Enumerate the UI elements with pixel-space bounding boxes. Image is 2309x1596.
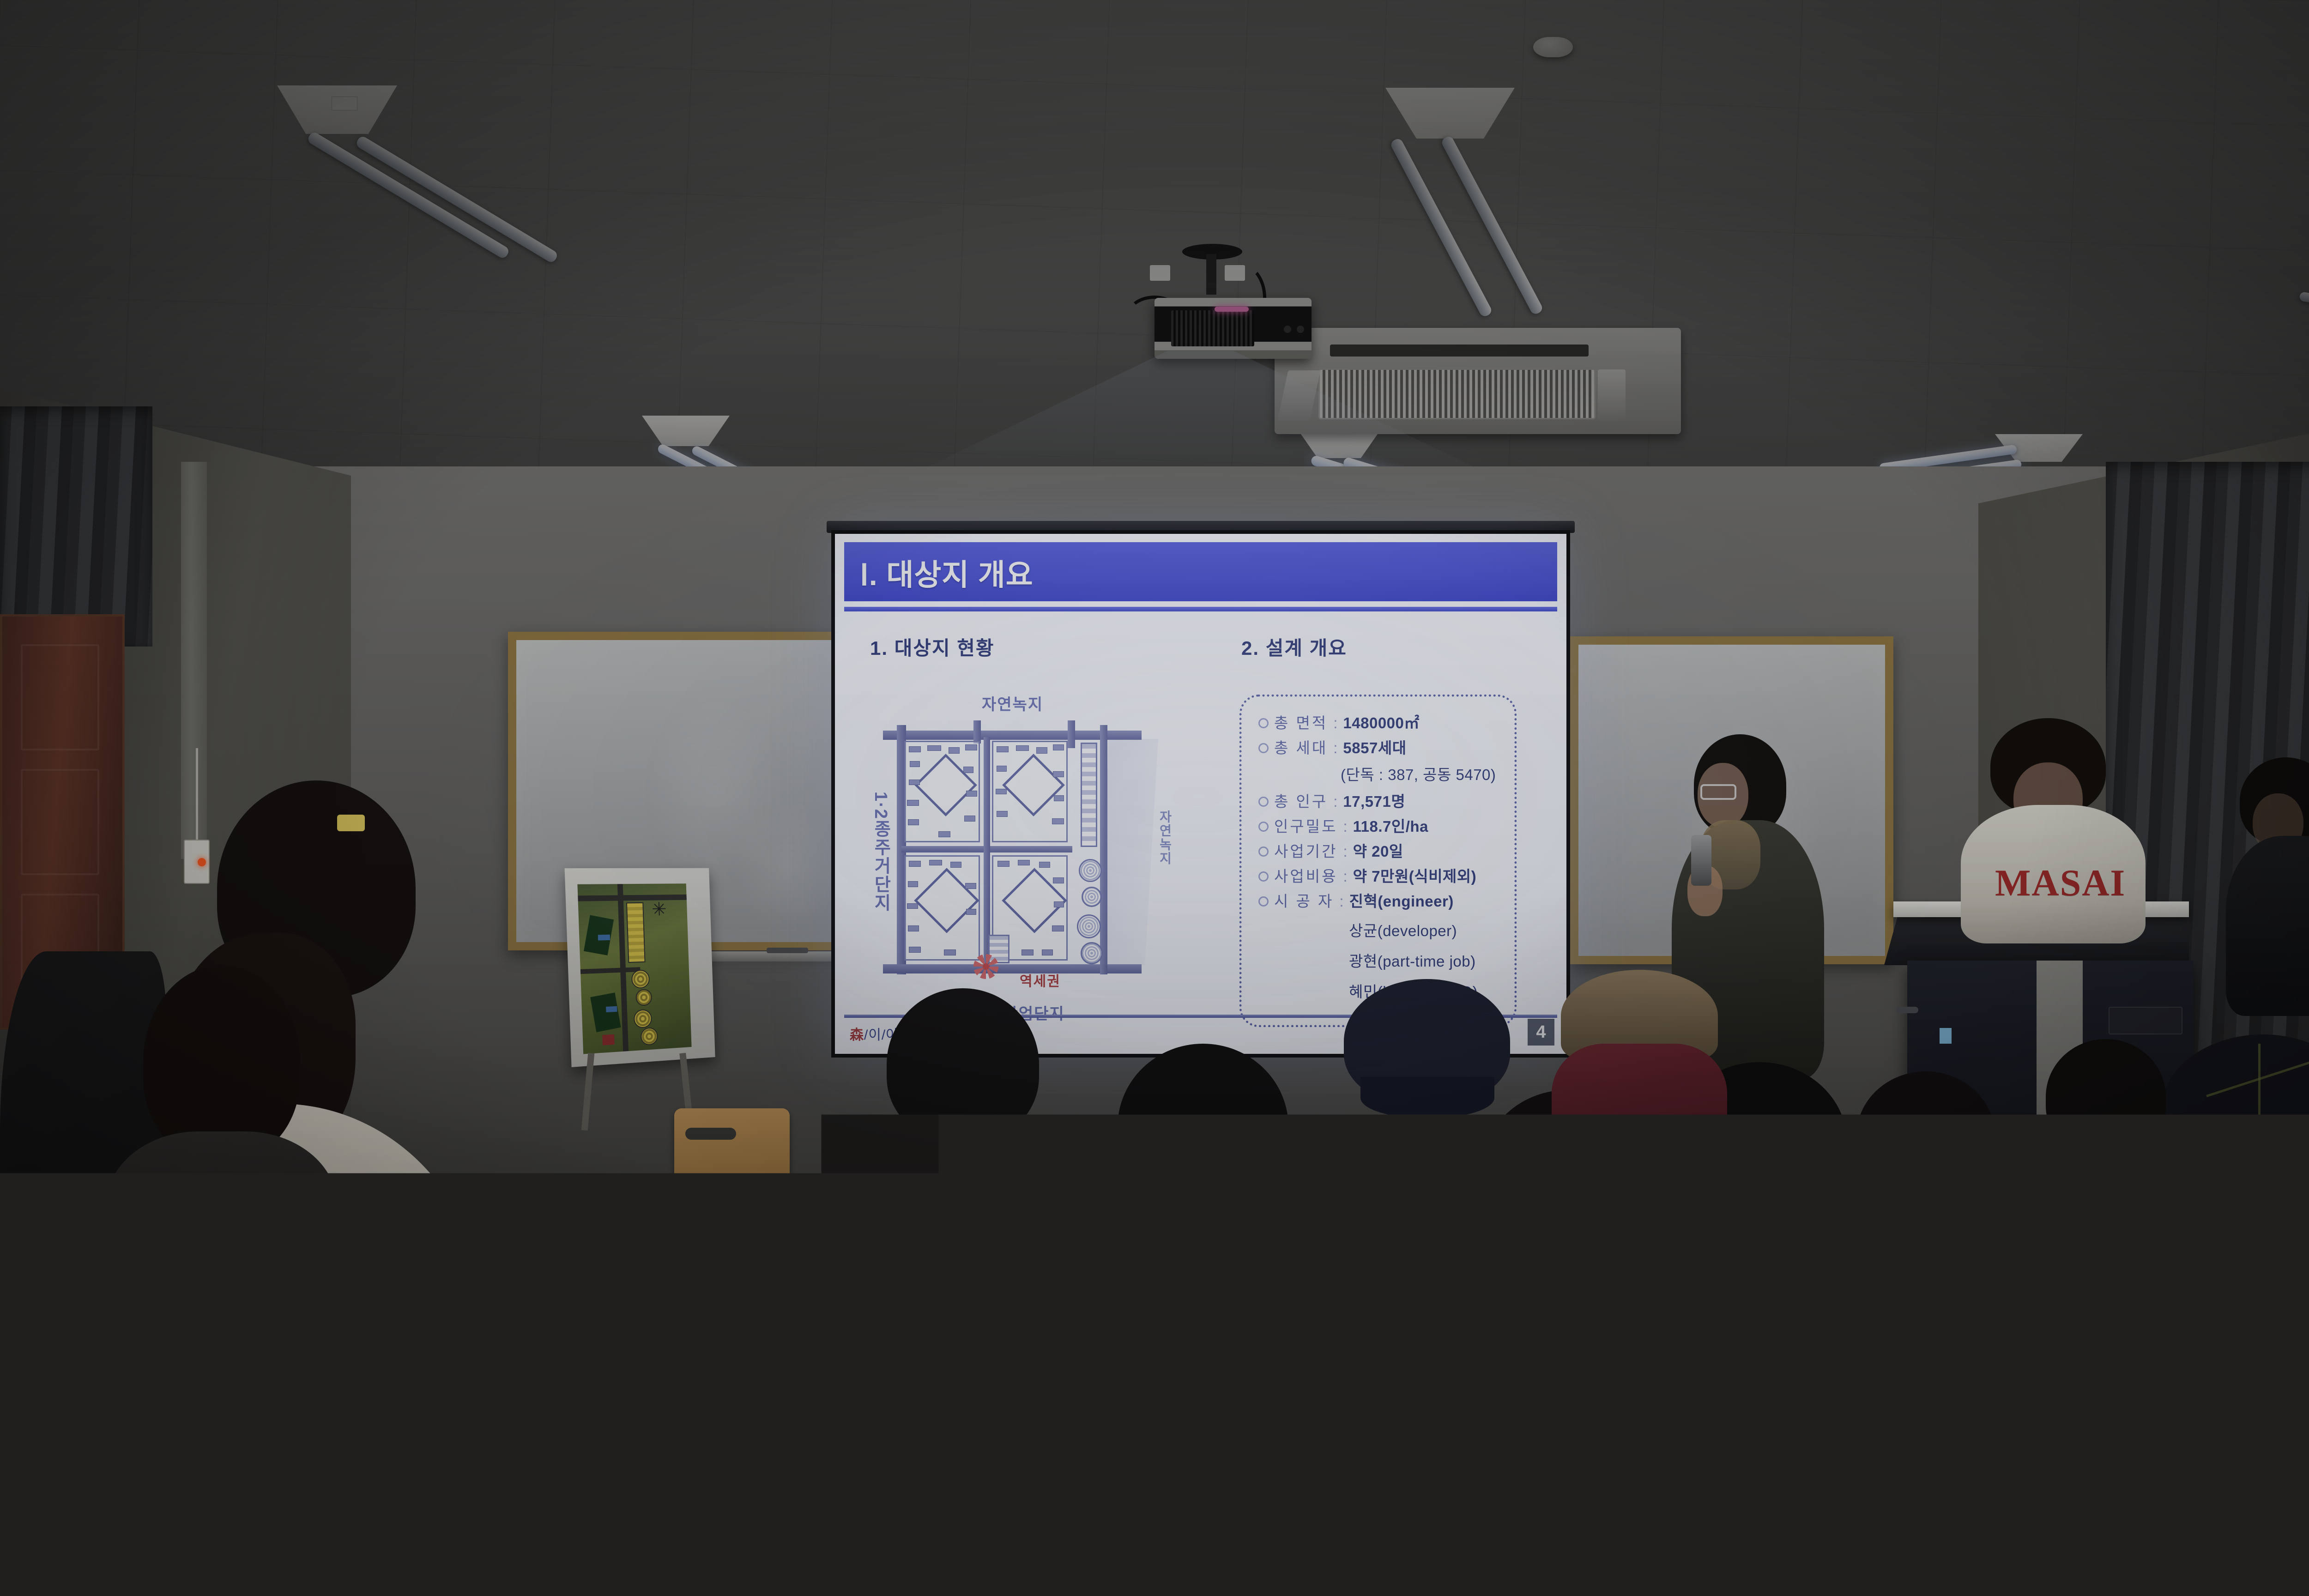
- spec-row: 총 면적 : 1480000㎡: [1258, 715, 1506, 731]
- station-marker-icon: [973, 954, 998, 979]
- spec-colon: :: [1343, 869, 1347, 884]
- spec-colon: :: [1333, 740, 1337, 756]
- spec-row: 총 세대 : 5857세대: [1258, 740, 1506, 756]
- contractor-entry: 상균(developer): [1349, 919, 1506, 941]
- spec-row: 시 공 자 : 진혁(engineer): [1258, 894, 1506, 909]
- window-curtain-left: [0, 406, 152, 647]
- spec-colon: :: [1333, 715, 1337, 731]
- bullet-circle-icon: [1258, 822, 1269, 832]
- whiteboard-marker[interactable]: [767, 948, 808, 953]
- bullet-circle-icon: [1258, 871, 1269, 882]
- spec-value: 17,571명: [1343, 794, 1405, 809]
- compass-rose-icon: ✳: [651, 900, 667, 919]
- spec-row: 사업기간 : 약 20일: [1258, 844, 1506, 859]
- easel-stand: ✳: [568, 868, 762, 1127]
- lecture-hall-scene: Ⅰ. 대상지 개요 1. 대상지 현황 2. 설계 개요 자연녹지 1·2종주거…: [0, 0, 2309, 1596]
- spec-household-breakdown: (단독 : 387, 공동 5470): [1341, 762, 1506, 785]
- box-on-desk: [2152, 1247, 2304, 1335]
- hoodie-logo-text: MASAI: [1995, 861, 2126, 905]
- slide-title-underline: [844, 607, 1557, 611]
- bottle-cap: [935, 1247, 957, 1261]
- slide-title: Ⅰ. 대상지 개요: [860, 551, 1034, 594]
- bullet-circle-icon: [1258, 797, 1269, 807]
- design-spec-list: 총 면적 : 1480000㎡ 총 세대 : 5857세대 (단독 : 387,…: [1258, 715, 1506, 1010]
- handout-paper-left[interactable]: [1278, 1276, 1386, 1314]
- cap-star-patch-icon: ★: [2240, 1132, 2261, 1156]
- bullet-circle-icon: [1258, 743, 1269, 753]
- spec-row: 사업비용 : 약 7만원(식비제외): [1258, 869, 1506, 884]
- spec-colon: :: [1333, 794, 1337, 809]
- chair-empty-1[interactable]: [670, 1108, 804, 1367]
- podium-handle[interactable]: [1896, 1007, 1918, 1013]
- eyeglasses-icon: [1700, 784, 1736, 800]
- spec-colon: :: [1343, 844, 1347, 859]
- podium-equipment-rack[interactable]: [2109, 1007, 2182, 1034]
- attendee-center-2: [1053, 1044, 1348, 1596]
- paper-cup[interactable]: [1930, 1496, 1981, 1556]
- spec-colon: :: [1343, 819, 1347, 834]
- design-spec-panel: 총 면적 : 1480000㎡ 총 세대 : 5857세대 (단독 : 387,…: [1239, 695, 1517, 1027]
- spec-row: 총 인구 : 17,571명: [1258, 794, 1506, 809]
- attendee-left-mid: [106, 965, 346, 1316]
- spec-value: 약 7만원(식비제외): [1353, 869, 1477, 884]
- spec-label: 총 면적: [1274, 715, 1328, 731]
- section-heading-right: 2. 설계 개요: [1241, 633, 1347, 661]
- site-map-drawing: [883, 720, 1183, 997]
- contractor-entry: 광현(part-time job): [1349, 949, 1506, 971]
- spec-row: 인구밀도 : 118.7인/ha: [1258, 819, 1506, 834]
- section-heading-left: 1. 대상지 현황: [870, 633, 995, 661]
- projection-screen: Ⅰ. 대상지 개요 1. 대상지 현황 2. 설계 개요 자연녹지 1·2종주거…: [831, 530, 1570, 1058]
- spec-label: 총 세대: [1274, 740, 1328, 756]
- spec-label: 시 공 자: [1274, 894, 1334, 909]
- attendee-fur-hood: [1533, 970, 1746, 1210]
- site-map-figure: 자연녹지 1·2종주거단지 자연녹지 첨단산업단지 역세권: [873, 695, 1196, 1027]
- spec-label: 인구밀도: [1274, 819, 1337, 834]
- spec-label: 사업기간: [1274, 844, 1337, 859]
- spec-value: 5857세대: [1343, 740, 1406, 756]
- bullet-circle-icon: [1258, 896, 1269, 907]
- attendee-center-1: [831, 988, 1090, 1596]
- spec-value: 약 20일: [1353, 844, 1403, 859]
- spec-value: 1480000㎡: [1343, 715, 1419, 731]
- presentation-slide: Ⅰ. 대상지 개요 1. 대상지 현황 2. 설계 개요 자연녹지 1·2종주거…: [835, 534, 1566, 1054]
- hair-tie: [337, 815, 365, 831]
- spec-value: 진혁(engineer): [1349, 894, 1454, 909]
- bullet-circle-icon: [1258, 846, 1269, 857]
- spec-value: 118.7인/ha: [1353, 819, 1428, 834]
- spec-colon: :: [1339, 894, 1343, 909]
- spec-label: 총 인구: [1274, 794, 1328, 809]
- map-label-green-zone-top: 자연녹지: [982, 692, 1043, 714]
- water-bottle[interactable]: [933, 1256, 959, 1312]
- attendee-right-standing: [2226, 757, 2309, 1016]
- podium-operator: MASAI: [1940, 718, 2180, 977]
- podium-label-sticker: [1940, 1028, 1952, 1044]
- bullet-circle-icon: [1258, 718, 1269, 728]
- spec-label: 사업비용: [1274, 869, 1337, 884]
- microphone[interactable]: [1691, 835, 1711, 886]
- site-plan-poster: ✳: [565, 868, 715, 1067]
